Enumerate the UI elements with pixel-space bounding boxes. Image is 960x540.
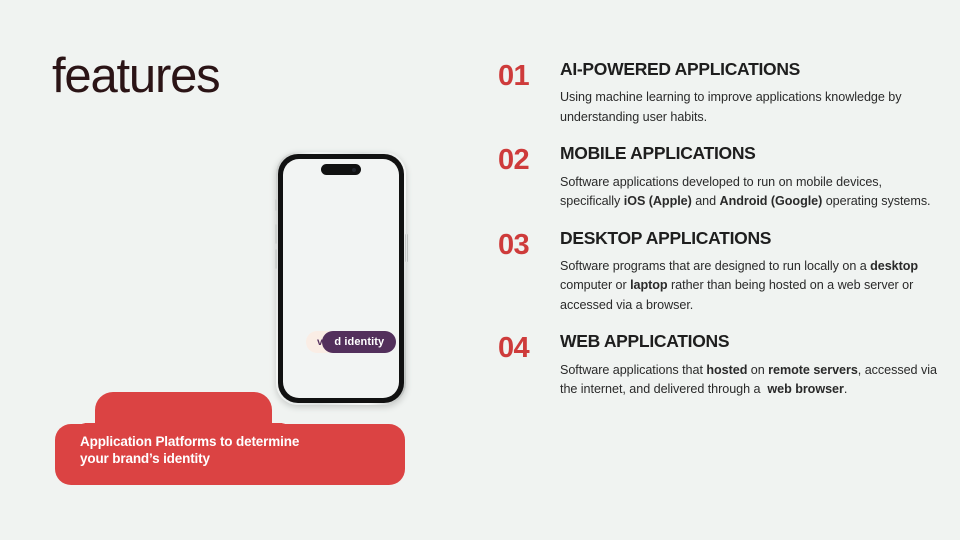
feature-description: Using machine learning to improve applic…	[560, 88, 938, 127]
front-camera-icon	[352, 168, 356, 172]
feature-number: 04	[498, 332, 560, 363]
badge-identity[interactable]: d identity	[322, 331, 396, 353]
page-title: features	[52, 52, 219, 101]
mute-switch-button[interactable]	[275, 199, 278, 211]
phone-mockup	[276, 152, 406, 405]
floating-badge-group: visual d identity	[306, 331, 396, 353]
feature-body: DESKTOP APPLICATIONSSoftware programs th…	[560, 229, 938, 316]
feature-title: MOBILE APPLICATIONS	[560, 144, 938, 163]
feature-item-04: 04WEB APPLICATIONSSoftware applications …	[498, 332, 938, 399]
callout-line-2: your brand’s identity	[80, 450, 400, 467]
feature-title: WEB APPLICATIONS	[560, 332, 938, 351]
phone-bezel	[278, 154, 404, 403]
callout-line-1: Application Platforms to determine	[80, 433, 400, 450]
volume-up-button[interactable]	[275, 224, 278, 244]
feature-number: 01	[498, 60, 560, 91]
callout-box: Application Platforms to determine your …	[55, 392, 405, 485]
feature-number: 02	[498, 144, 560, 175]
volume-down-button[interactable]	[275, 249, 278, 269]
feature-body: AI-POWERED APPLICATIONSUsing machine lea…	[560, 60, 938, 127]
phone-screen	[283, 159, 399, 398]
feature-item-02: 02MOBILE APPLICATIONSSoftware applicatio…	[498, 144, 938, 211]
features-list: 01AI-POWERED APPLICATIONSUsing machine l…	[498, 60, 938, 417]
dynamic-island-icon	[321, 164, 361, 175]
feature-item-03: 03DESKTOP APPLICATIONSSoftware programs …	[498, 229, 938, 316]
feature-description: Software programs that are designed to r…	[560, 257, 938, 316]
feature-title: AI-POWERED APPLICATIONS	[560, 60, 938, 79]
power-button[interactable]	[405, 234, 408, 262]
feature-description: Software applications that hosted on rem…	[560, 361, 938, 400]
callout-text: Application Platforms to determine your …	[80, 433, 400, 468]
feature-description: Software applications developed to run o…	[560, 173, 938, 212]
feature-body: MOBILE APPLICATIONSSoftware applications…	[560, 144, 938, 211]
feature-item-01: 01AI-POWERED APPLICATIONSUsing machine l…	[498, 60, 938, 127]
feature-body: WEB APPLICATIONSSoftware applications th…	[560, 332, 938, 399]
phone-outer-frame	[276, 152, 406, 405]
left-panel: features visual d identity Application P…	[0, 0, 480, 540]
feature-number: 03	[498, 229, 560, 260]
feature-title: DESKTOP APPLICATIONS	[560, 229, 938, 248]
